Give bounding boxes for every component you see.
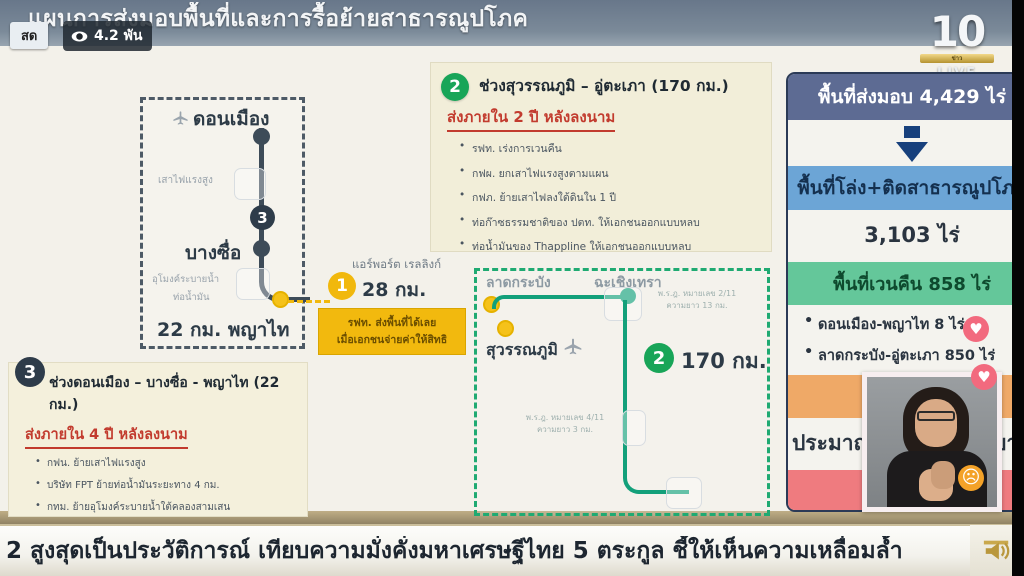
- card-2-subheading: ส่งภายใน 2 ปี หลังลงนาม: [447, 105, 615, 132]
- decree-note-1-line2: ความยาว 13 กม.: [643, 300, 751, 312]
- card-2-heading: ช่วงสุวรรณภูมิ – อู่ตะเภา (170 กม.): [431, 63, 771, 98]
- list-item: ท่อน้ำมันของ Thappline ให้เอกชนออกแบบหลบ: [459, 238, 771, 255]
- panel-band-open-area: พื้นที่โล่ง+ติดสาธารณูปโภค: [788, 166, 1024, 210]
- label-oil-pipe: ท่อน้ำมัน: [173, 290, 210, 305]
- label-suvarnabhumi-text: สุวรรณภูมิ: [486, 340, 558, 359]
- info-card-section-3: 3 ช่วงดอนเมือง – บางซื่อ - พญาไท (22 กม.…: [8, 362, 308, 517]
- interpreter-face: [915, 399, 957, 447]
- label-ladkrabang: ลาดกระบัง: [486, 272, 551, 294]
- decree-note-1-line1: พ.ร.ฎ. หมายเลข 2/11: [643, 288, 751, 300]
- list-item: ลาดกระบัง-อู่ตะเภา 850 ไร่: [804, 344, 1024, 367]
- badge-card-2: 2: [441, 73, 469, 101]
- ghost-box-south: [666, 477, 702, 509]
- list-item: กฟน. ย้ายเสาไฟแรงสูง: [35, 456, 307, 471]
- arrow-down-icon: [788, 126, 1024, 162]
- sign-language-interpreter: [862, 372, 1002, 512]
- list-item: กฟภ. ย้ายเสาไฟลงใต้ดินใน 1 ปี: [459, 189, 771, 206]
- glasses-icon: [917, 411, 955, 421]
- decree-note-2-line1: พ.ร.ฎ. หมายเลข 4/11: [511, 412, 619, 424]
- ticker-text: 2 สูงสุดเป็นประวัติการณ์ เทียบความมั่งคั…: [0, 536, 970, 566]
- channel-number: 10: [914, 10, 1000, 54]
- station-don-mueang-label: ดอนเมือง: [193, 108, 269, 130]
- card-3-subheading: ส่งภายใน 4 ปี หลังลงนาม: [25, 423, 188, 449]
- label-suvarnabhumi: สุวรรณภูมิ: [486, 337, 587, 363]
- label-airport-rail-link: แอร์พอร์ต เรลลิงก์: [352, 256, 441, 274]
- ghost-box-tunnel: [236, 268, 270, 300]
- decree-note-2: พ.ร.ฎ. หมายเลข 4/11 ความยาว 3 กม.: [511, 412, 619, 436]
- distance-don-mueang: 22 กม. พญาไท: [157, 315, 289, 345]
- reaction-heart: ♥: [971, 364, 997, 390]
- airplane-icon: [563, 337, 583, 357]
- badge-section-3: 3: [250, 205, 275, 230]
- panel-value-open-area: 3,103 ไร่: [788, 210, 1024, 262]
- label-high-voltage-tower: เสาไฟแรงสูง: [158, 173, 213, 188]
- node-bang-sue: [253, 240, 270, 257]
- panel-expropriation-list: ดอนเมือง-พญาไท 8 ไร่ ลาดกระบัง-อู่ตะเภา …: [804, 313, 1024, 367]
- don-mueang-region: [140, 97, 305, 349]
- badge-section-1: 1: [328, 272, 356, 300]
- node-suvarnabhumi-spur: [497, 320, 514, 337]
- list-item: บริษัท FPT ย้ายท่อน้ำมันระยะทาง 4 กม.: [35, 478, 307, 493]
- station-bang-sue: บางซื่อ: [185, 238, 241, 268]
- card-3-bullet-list: กฟน. ย้ายเสาไฟแรงสูง บริษัท FPT ย้ายท่อน…: [35, 456, 307, 515]
- interpreter-hand-right: [931, 461, 955, 489]
- viewer-count: 4.2 พัน: [63, 21, 152, 51]
- speaker-icon-glyph: [982, 538, 1012, 564]
- live-badge: สด: [10, 22, 48, 49]
- list-item: รฟท. เร่งการเวนคืน: [459, 140, 771, 157]
- reaction-heart: ♥: [963, 316, 989, 342]
- distance-eastern: 170 กม.: [681, 345, 767, 378]
- rail-line-east-vertical: [623, 300, 627, 478]
- decree-note-2-line2: ความยาว 3 กม.: [511, 424, 619, 436]
- callout-note-line1: รฟท. ส่งพื้นที่ได้เลย: [319, 315, 465, 332]
- list-item: ดอนเมือง-พญาไท 8 ไร่: [804, 313, 1024, 336]
- callout-note-box: รฟท. ส่งพื้นที่ได้เลย เมื่อเอกชนจ่ายค่าใ…: [318, 308, 466, 355]
- letterbox-edge: [1012, 0, 1024, 576]
- badge-card-3: 3: [15, 357, 45, 387]
- heart-icon: ♥: [969, 322, 982, 337]
- list-item: ท่อก๊าซธรรมชาติของ ปตท. ให้เอกชนออกแบบหล…: [459, 214, 771, 231]
- broadcast-stage: แผนการส่งมอบพื้นที่และการรื้อย้ายสาธารณู…: [0, 0, 1024, 576]
- distance-airport-rail-link: 28 กม.: [362, 275, 426, 305]
- label-drainage-tunnel: อุโมงค์ระบายน้ำ: [152, 272, 219, 287]
- airplane-icon: [172, 110, 189, 127]
- list-item: กฟผ. ยกเสาไฟแรงสูงตามแผน: [459, 165, 771, 182]
- info-card-section-2: 2 ช่วงสุวรรณภูมิ – อู่ตะเภา (170 กม.) ส่…: [430, 62, 772, 252]
- callout-note-line2: เมื่อเอกชนจ่ายค่าให้สิทธิ: [319, 332, 465, 349]
- panel-band-expropriation: พื้นที่เวนคืน 858 ไร่: [788, 262, 1024, 305]
- card-2-bullet-list: รฟท. เร่งการเวนคืน กฟผ. ยกเสาไฟแรงสูงตาม…: [459, 140, 771, 255]
- panel-band-handover: พื้นที่ส่งมอบ 4,429 ไร่: [788, 74, 1024, 120]
- node-phayathai: [272, 291, 289, 308]
- sad-face-icon: ☹: [962, 469, 981, 487]
- connector-dashed-yellow: [288, 300, 330, 303]
- card-3-heading: ช่วงดอนเมือง – บางซื่อ - พญาไท (22 กม.): [9, 363, 307, 416]
- heart-icon: ♥: [977, 370, 990, 385]
- reaction-sad: ☹: [958, 465, 984, 491]
- list-item: กทม. ย้ายอุโมงค์ระบายน้ำใต้คลองสามเสน: [35, 500, 307, 515]
- viewer-count-label: 4.2 พัน: [94, 25, 142, 47]
- decree-note-1: พ.ร.ฎ. หมายเลข 2/11 ความยาว 13 กม.: [643, 288, 751, 312]
- presentation-slide: แผนการส่งมอบพื้นที่และการรื้อย้ายสาธารณู…: [0, 0, 1024, 524]
- eye-icon: [71, 28, 88, 45]
- badge-section-2: 2: [644, 343, 674, 373]
- ghost-box-mid: [622, 410, 646, 446]
- ghost-box-tower: [234, 168, 266, 200]
- news-ticker: 2 สูงสุดเป็นประวัติการณ์ เทียบความมั่งคั…: [0, 524, 1024, 576]
